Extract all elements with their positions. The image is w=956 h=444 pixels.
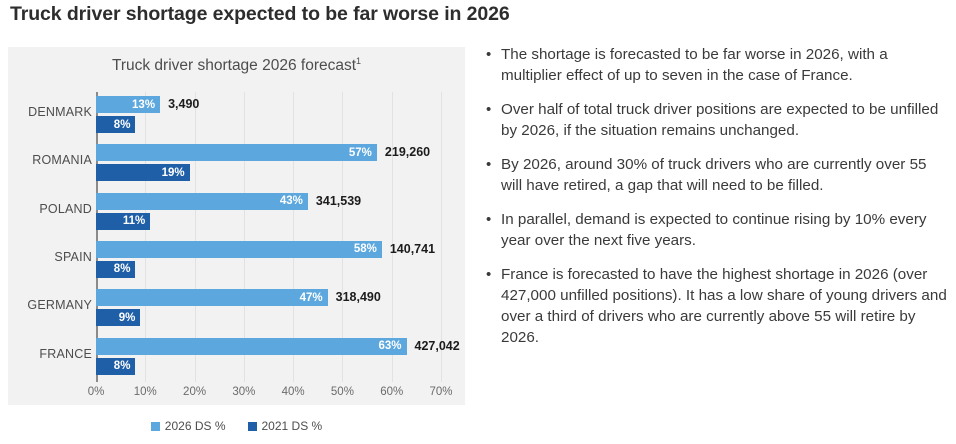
bullet-text: In parallel, demand is expected to conti… [501, 209, 948, 251]
x-tick-label: 10% [134, 386, 157, 398]
bar-2026: 63% [96, 338, 407, 355]
bullet-marker-icon: • [486, 154, 501, 196]
bullet-item: •By 2026, around 30% of truck drivers wh… [486, 154, 948, 196]
bar-2021: 8% [96, 358, 135, 375]
bar-2021: 8% [96, 261, 135, 278]
absolute-value-label: 140,741 [390, 241, 435, 258]
legend-swatch-icon [248, 422, 257, 431]
bullet-text: France is forecasted to have the highest… [501, 264, 948, 348]
x-tick-label: 70% [429, 386, 452, 398]
bullet-item: •In parallel, demand is expected to cont… [486, 209, 948, 251]
bullet-text: By 2026, around 30% of truck drivers who… [501, 154, 948, 196]
absolute-value-label: 219,260 [385, 144, 430, 161]
bar-value-label: 19% [162, 167, 185, 179]
chart-panel: Truck driver shortage 2026 forecast1 DEN… [8, 47, 465, 405]
category-label: SPAIN [8, 250, 92, 264]
absolute-value-label: 341,539 [316, 193, 361, 210]
bar-value-label: 8% [114, 263, 131, 275]
category-label: ROMANIA [8, 153, 92, 167]
x-tick-label: 30% [232, 386, 255, 398]
chart-title-footnote-marker: 1 [356, 56, 361, 66]
bar-2021: 19% [96, 164, 190, 181]
x-tick-label: 40% [282, 386, 305, 398]
bullet-item: •Over half of total truck driver positio… [486, 99, 948, 141]
page-title: Truck driver shortage expected to be far… [10, 3, 510, 26]
legend-swatch-icon [151, 422, 160, 431]
bullet-list: •The shortage is forecasted to be far wo… [486, 44, 948, 361]
legend-item[interactable]: 2026 DS % [151, 419, 226, 433]
category-label: GERMANY [8, 298, 92, 312]
x-tick-label: 50% [331, 386, 354, 398]
bar-value-label: 57% [349, 147, 372, 159]
chart-title: Truck driver shortage 2026 forecast1 [8, 56, 465, 75]
bar-value-label: 63% [378, 340, 401, 352]
chart-title-text: Truck driver shortage 2026 forecast [112, 57, 356, 74]
category-label: FRANCE [8, 347, 92, 361]
x-tick-label: 0% [88, 386, 105, 398]
bar-2026: 58% [96, 241, 382, 258]
bar-2026: 13% [96, 96, 160, 113]
bar-value-label: 8% [114, 360, 131, 372]
x-tick-label: 60% [380, 386, 403, 398]
bar-2026: 43% [96, 193, 308, 210]
absolute-value-label: 3,490 [168, 96, 199, 113]
bar-value-label: 11% [123, 215, 145, 227]
legend-item[interactable]: 2021 DS % [248, 419, 323, 433]
absolute-value-label: 427,042 [415, 338, 460, 355]
bar-value-label: 8% [114, 119, 131, 131]
bar-value-label: 9% [119, 312, 136, 324]
category-label: DENMARK [8, 105, 92, 119]
bar-2026: 57% [96, 144, 377, 161]
chart-legend: 2026 DS %2021 DS % [8, 419, 465, 433]
legend-label: 2026 DS % [165, 419, 226, 433]
bar-value-label: 43% [280, 195, 303, 207]
bar-value-label: 13% [132, 99, 155, 111]
bullet-marker-icon: • [486, 264, 501, 348]
x-axis-tick-labels: 0%10%20%30%40%50%60%70% [96, 386, 441, 402]
bullet-marker-icon: • [486, 209, 501, 251]
bar-2021: 11% [96, 213, 150, 230]
bar-2026: 47% [96, 289, 328, 306]
category-label: POLAND [8, 202, 92, 216]
bar-2021: 8% [96, 116, 135, 133]
bullet-text: Over half of total truck driver position… [501, 99, 948, 141]
bullet-item: •The shortage is forecasted to be far wo… [486, 44, 948, 86]
bullet-item: •France is forecasted to have the highes… [486, 264, 948, 348]
bullet-marker-icon: • [486, 99, 501, 141]
x-tick-label: 20% [183, 386, 206, 398]
absolute-value-label: 318,490 [336, 289, 381, 306]
legend-label: 2021 DS % [262, 419, 323, 433]
bullet-marker-icon: • [486, 44, 501, 86]
bar-value-label: 58% [354, 243, 377, 255]
bullet-text: The shortage is forecasted to be far wor… [501, 44, 948, 86]
bar-2021: 9% [96, 309, 140, 326]
chart-plot-area: DENMARK13%8%3,490ROMANIA57%19%219,260POL… [96, 92, 441, 382]
bar-value-label: 47% [300, 292, 323, 304]
